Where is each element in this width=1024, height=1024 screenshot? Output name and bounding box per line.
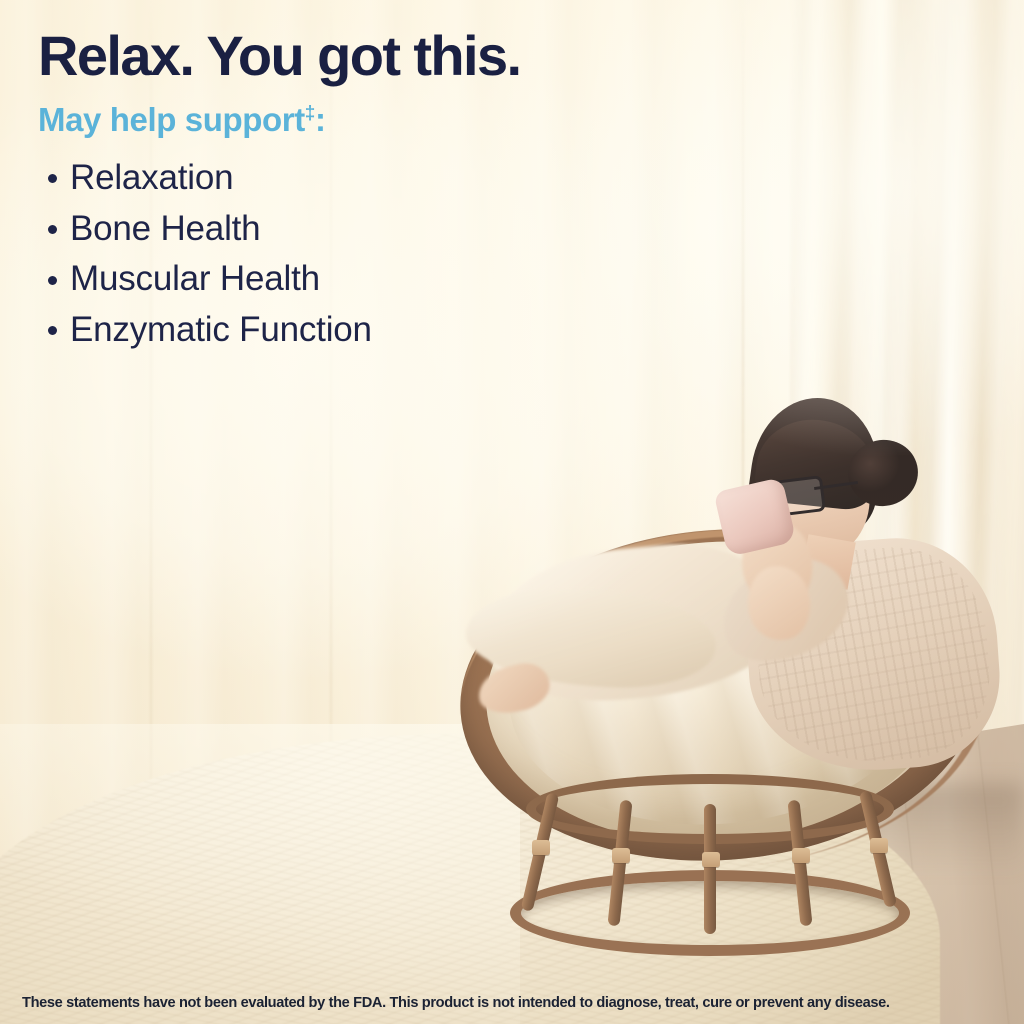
ad-creative: Relax. You got this. May help support‡: … [0,0,1024,1024]
rattan-binding [612,848,630,863]
bullet-icon [48,326,57,335]
list-item: Enzymatic Function [70,305,658,356]
ad-copy: Relax. You got this. May help support‡: … [38,26,658,356]
benefits-list: Relaxation Bone Health Muscular Health E… [38,153,658,356]
benefit-label: Bone Health [70,209,260,248]
benefit-label: Enzymatic Function [70,310,372,349]
fda-disclaimer: These statements have not been evaluated… [22,995,1010,1011]
seated-woman [452,380,1012,820]
benefit-label: Relaxation [70,158,233,197]
footnote-marker: ‡ [305,103,315,124]
rug-light-haze [0,724,520,1024]
list-item: Bone Health [70,204,658,255]
subhead: May help support‡: [38,102,658,138]
rattan-binding [532,840,550,855]
subhead-text: May help support [38,101,305,138]
page-title: Relax. You got this. [38,26,658,86]
bullet-icon [48,174,57,183]
bullet-icon [48,276,57,285]
list-item: Relaxation [70,153,658,204]
bullet-icon [48,225,57,234]
rattan-binding [792,848,810,863]
chair-leg [704,804,716,934]
list-item: Muscular Health [70,254,658,305]
subhead-colon: : [315,101,326,138]
rattan-binding [870,838,888,853]
rattan-binding [702,852,720,867]
benefit-label: Muscular Health [70,259,320,298]
